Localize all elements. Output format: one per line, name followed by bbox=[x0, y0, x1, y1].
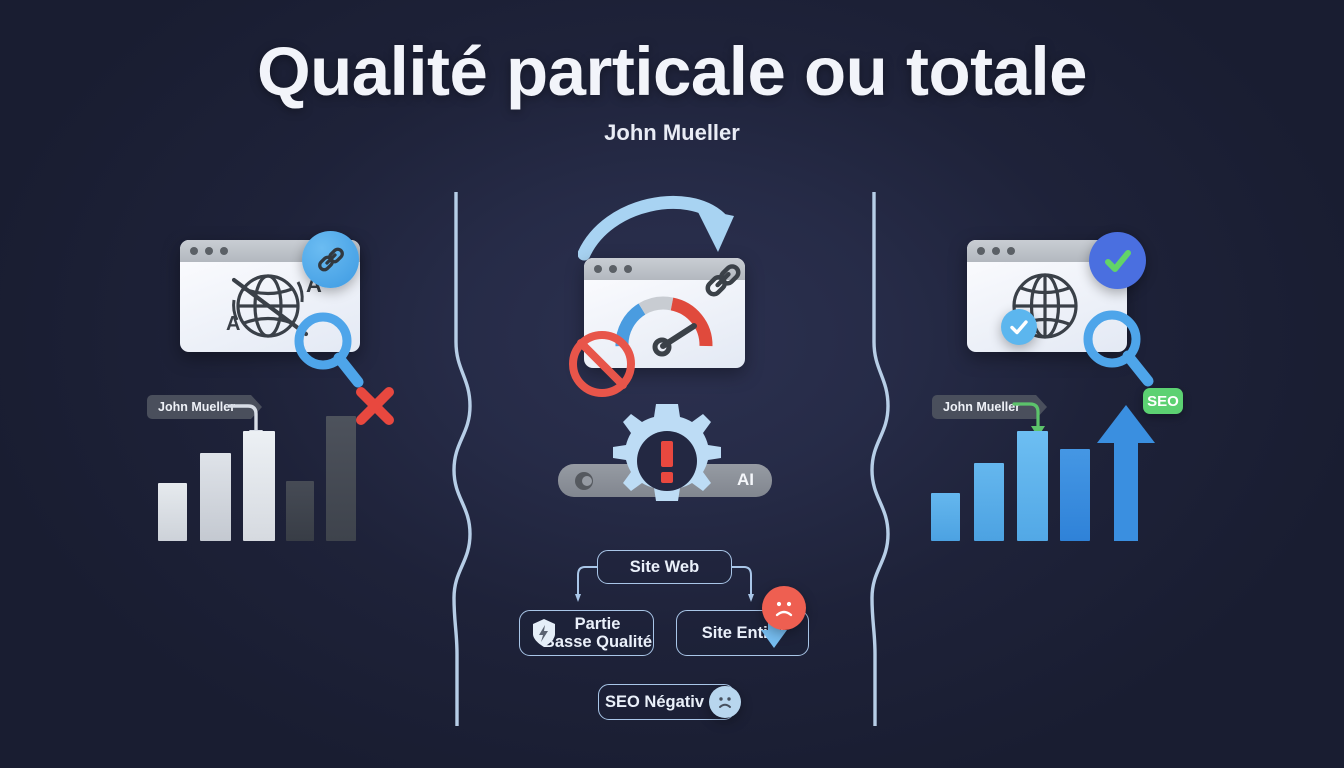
bar-3 bbox=[243, 431, 275, 541]
bar-5 bbox=[326, 416, 356, 541]
prohibition-no-entry-icon bbox=[566, 328, 638, 400]
sad-face-red-icon bbox=[762, 586, 806, 630]
window-dot-yellow bbox=[609, 265, 617, 273]
link-dark-icon bbox=[700, 258, 746, 304]
bar-4 bbox=[1060, 449, 1090, 541]
flow-node-label: SEO Négativ bbox=[605, 693, 704, 712]
window-dot-yellow bbox=[205, 247, 213, 255]
link-icon bbox=[314, 243, 348, 277]
window-dot-yellow bbox=[992, 247, 1000, 255]
crescent-circle-icon bbox=[573, 470, 595, 492]
window-dot-red bbox=[977, 247, 985, 255]
bar-chart-right bbox=[931, 400, 1131, 541]
shield-crack-icon bbox=[531, 618, 557, 648]
bar-chart-left bbox=[158, 400, 358, 541]
flow-node-label-line2: Basse Qualité bbox=[543, 633, 652, 651]
page-title: Qualité particale ou totale bbox=[0, 32, 1344, 111]
infographic-canvas: Qualité particale ou totale John Mueller bbox=[0, 0, 1344, 768]
bar-2 bbox=[200, 453, 231, 541]
bar-4 bbox=[286, 481, 314, 541]
divider-left bbox=[440, 192, 476, 726]
ai-pill-label: AI bbox=[737, 470, 754, 490]
window-dot-red bbox=[190, 247, 198, 255]
bar-1 bbox=[158, 483, 187, 541]
link-badge-left[interactable] bbox=[302, 231, 359, 288]
window-dot-green bbox=[624, 265, 632, 273]
sad-face-blue-icon bbox=[709, 686, 741, 718]
bar-2 bbox=[974, 463, 1004, 541]
magnifier-icon-right[interactable] bbox=[1078, 305, 1158, 395]
flow-node-label-line1: Partie bbox=[575, 615, 621, 633]
window-dot-green bbox=[220, 247, 228, 255]
window-dot-green bbox=[1007, 247, 1015, 255]
window-dot-red bbox=[594, 265, 602, 273]
bar-1 bbox=[931, 493, 960, 541]
gear-warning-icon[interactable] bbox=[604, 398, 730, 524]
check-circle-light-icon bbox=[1001, 309, 1037, 345]
check-circle-blue-icon bbox=[1089, 232, 1146, 289]
divider-right bbox=[856, 192, 892, 726]
arrow-up-growth-icon bbox=[1095, 403, 1157, 541]
svg-text:A: A bbox=[226, 313, 240, 335]
page-subtitle: John Mueller bbox=[0, 120, 1344, 146]
bar-3 bbox=[1017, 431, 1048, 541]
